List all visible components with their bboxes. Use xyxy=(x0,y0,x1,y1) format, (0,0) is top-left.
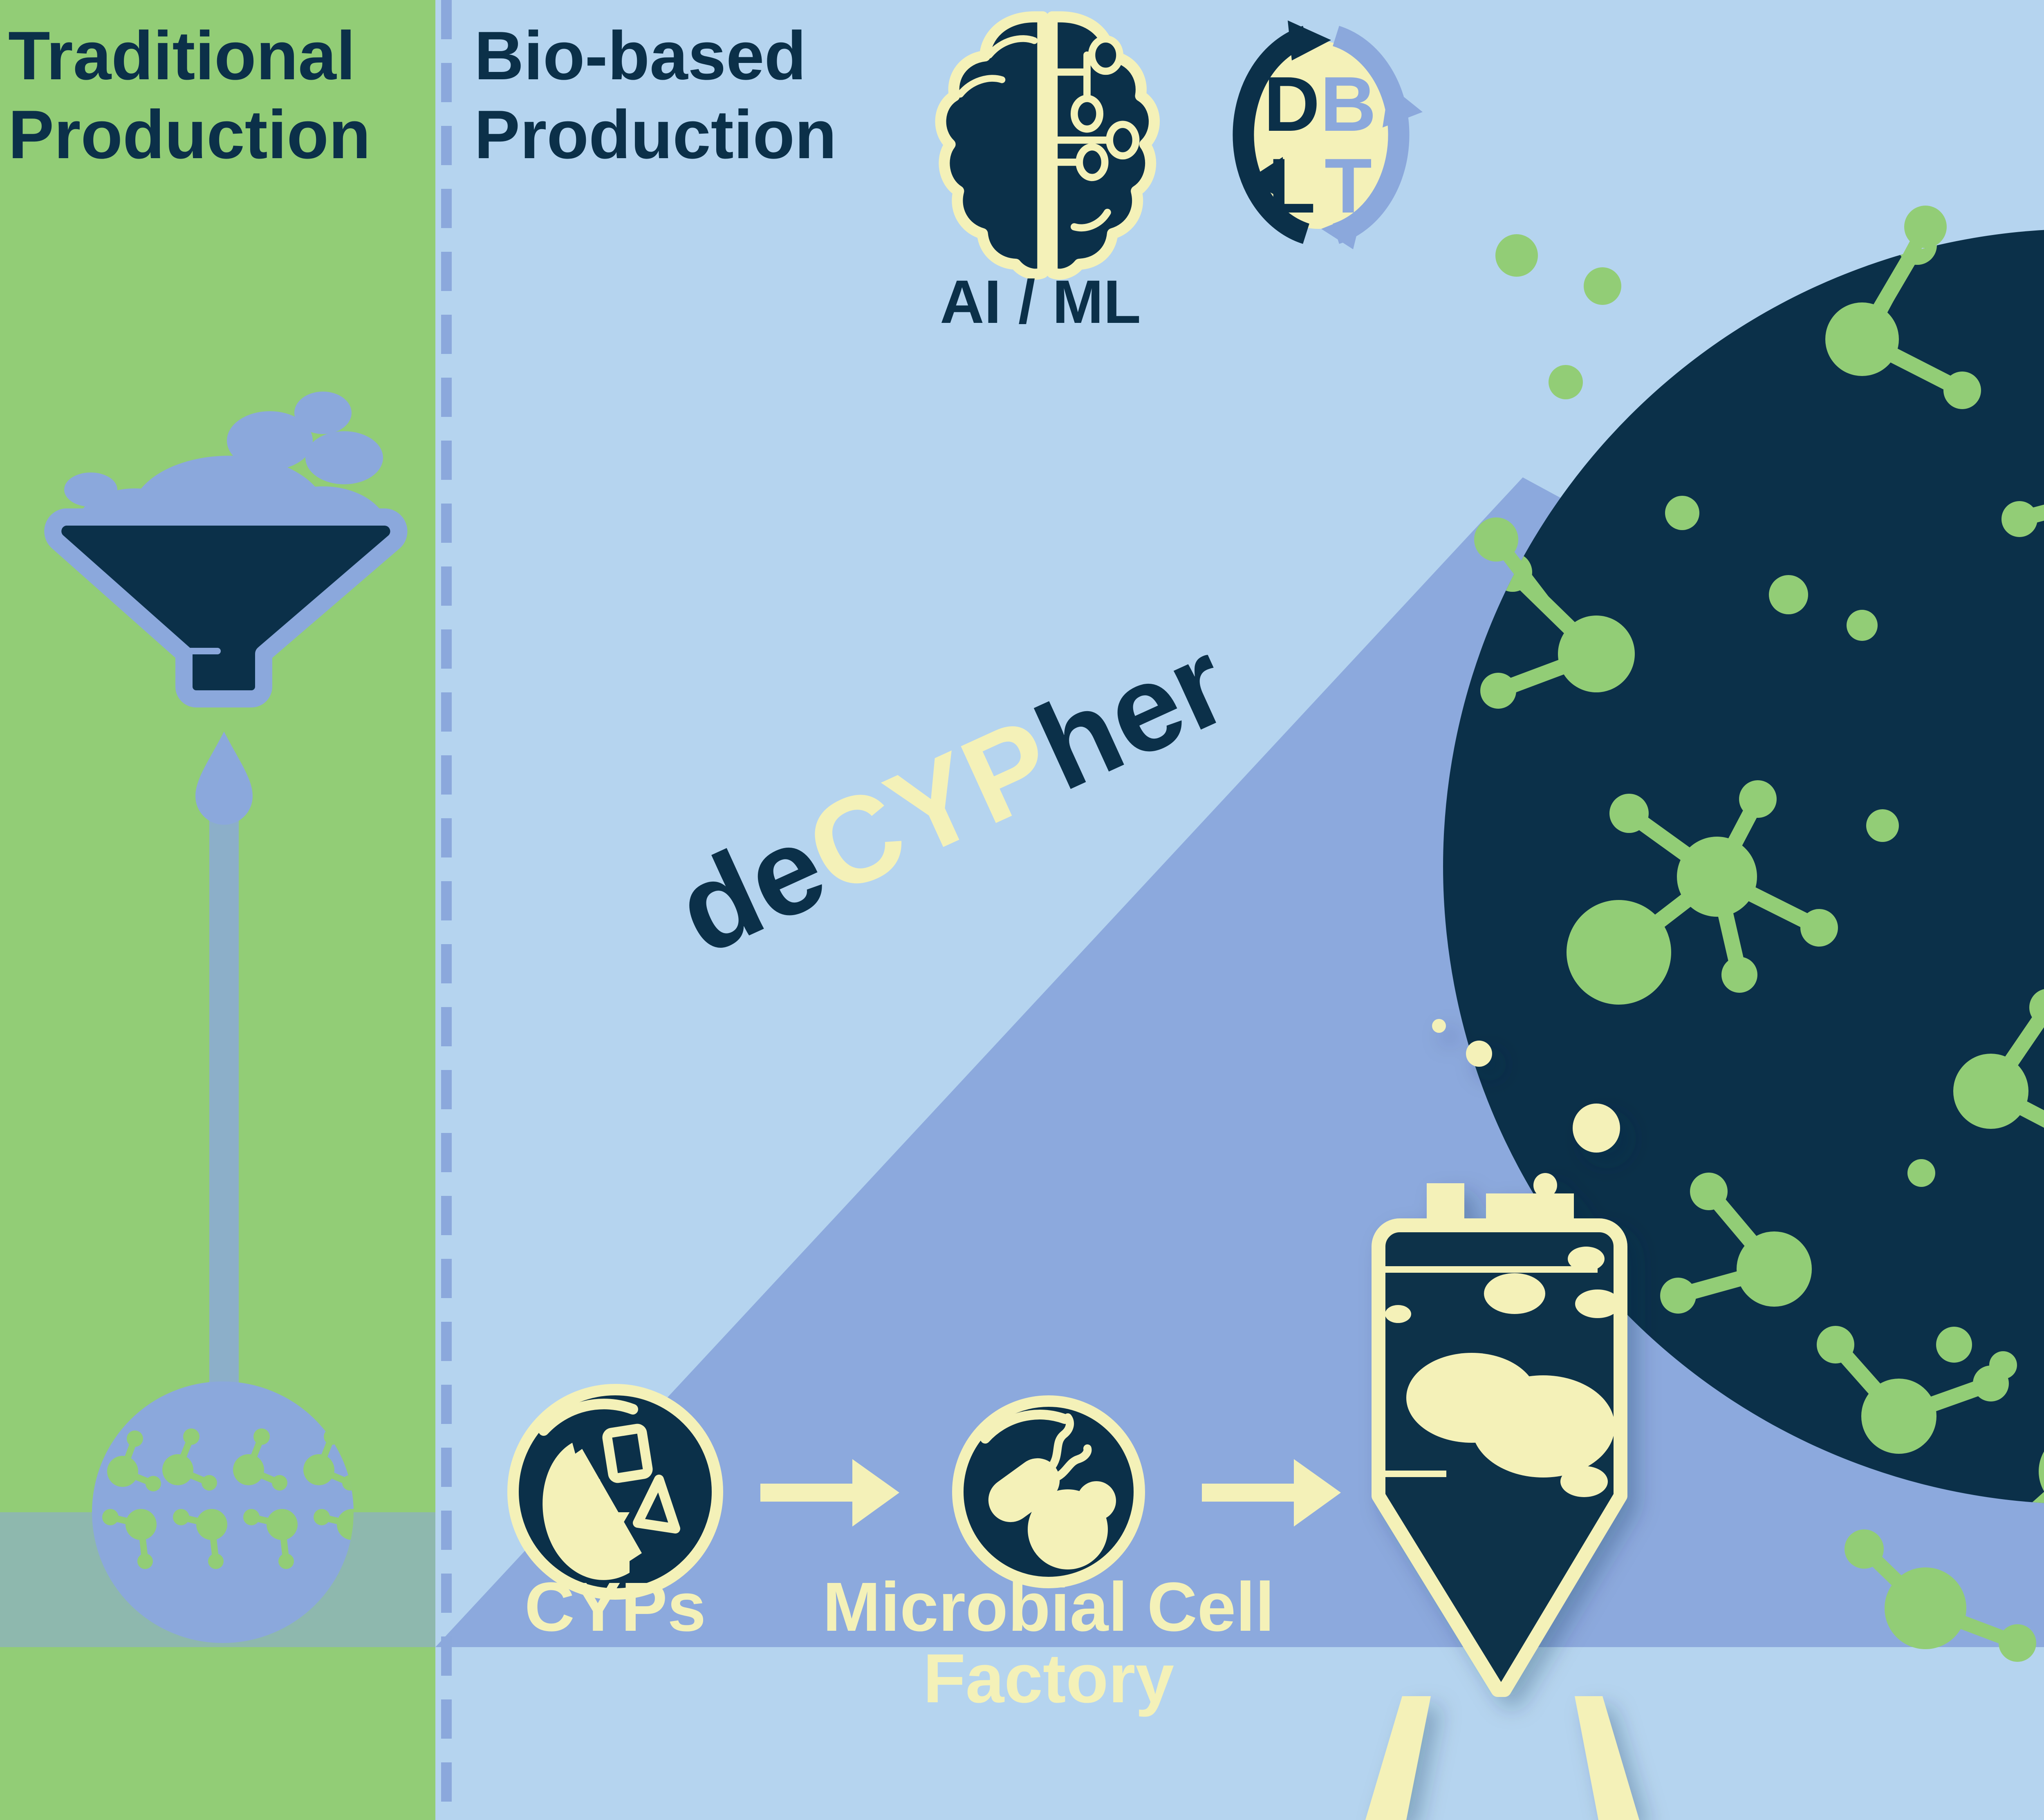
infographic-svg: AI / ML D B L T deCYPher CYPs xyxy=(0,0,2044,1820)
microbe-cell-icon[interactable] xyxy=(958,1401,1139,1583)
enzyme-icon[interactable] xyxy=(513,1390,717,1594)
dbtl-letter-t: T xyxy=(1325,143,1372,229)
infographic-canvas: AI / ML D B L T deCYPher CYPs xyxy=(0,0,2044,1820)
left-heading-line2: Production xyxy=(8,95,433,174)
left-heading-line1: Traditional xyxy=(8,16,433,95)
pipeline-label-mcf-line2: Factory xyxy=(923,1640,1174,1717)
right-heading-line1: Bio-based xyxy=(474,16,924,95)
right-heading-line2: Production xyxy=(474,95,924,174)
brain-circuit-icon xyxy=(941,17,1154,274)
pipeline-label-cyps: CYPs xyxy=(524,1568,706,1646)
dbtl-letter-d: D xyxy=(1264,61,1320,148)
right-panel-heading: Bio-based Production xyxy=(474,16,924,174)
dbtl-letter-b: B xyxy=(1320,61,1376,148)
pipeline-label-mcf-line1: Microbial Cell xyxy=(823,1568,1274,1646)
ai-ml-label: AI / ML xyxy=(940,267,1141,336)
dbtl-letter-l: L xyxy=(1268,143,1316,229)
left-panel-heading: Traditional Production xyxy=(8,16,433,174)
